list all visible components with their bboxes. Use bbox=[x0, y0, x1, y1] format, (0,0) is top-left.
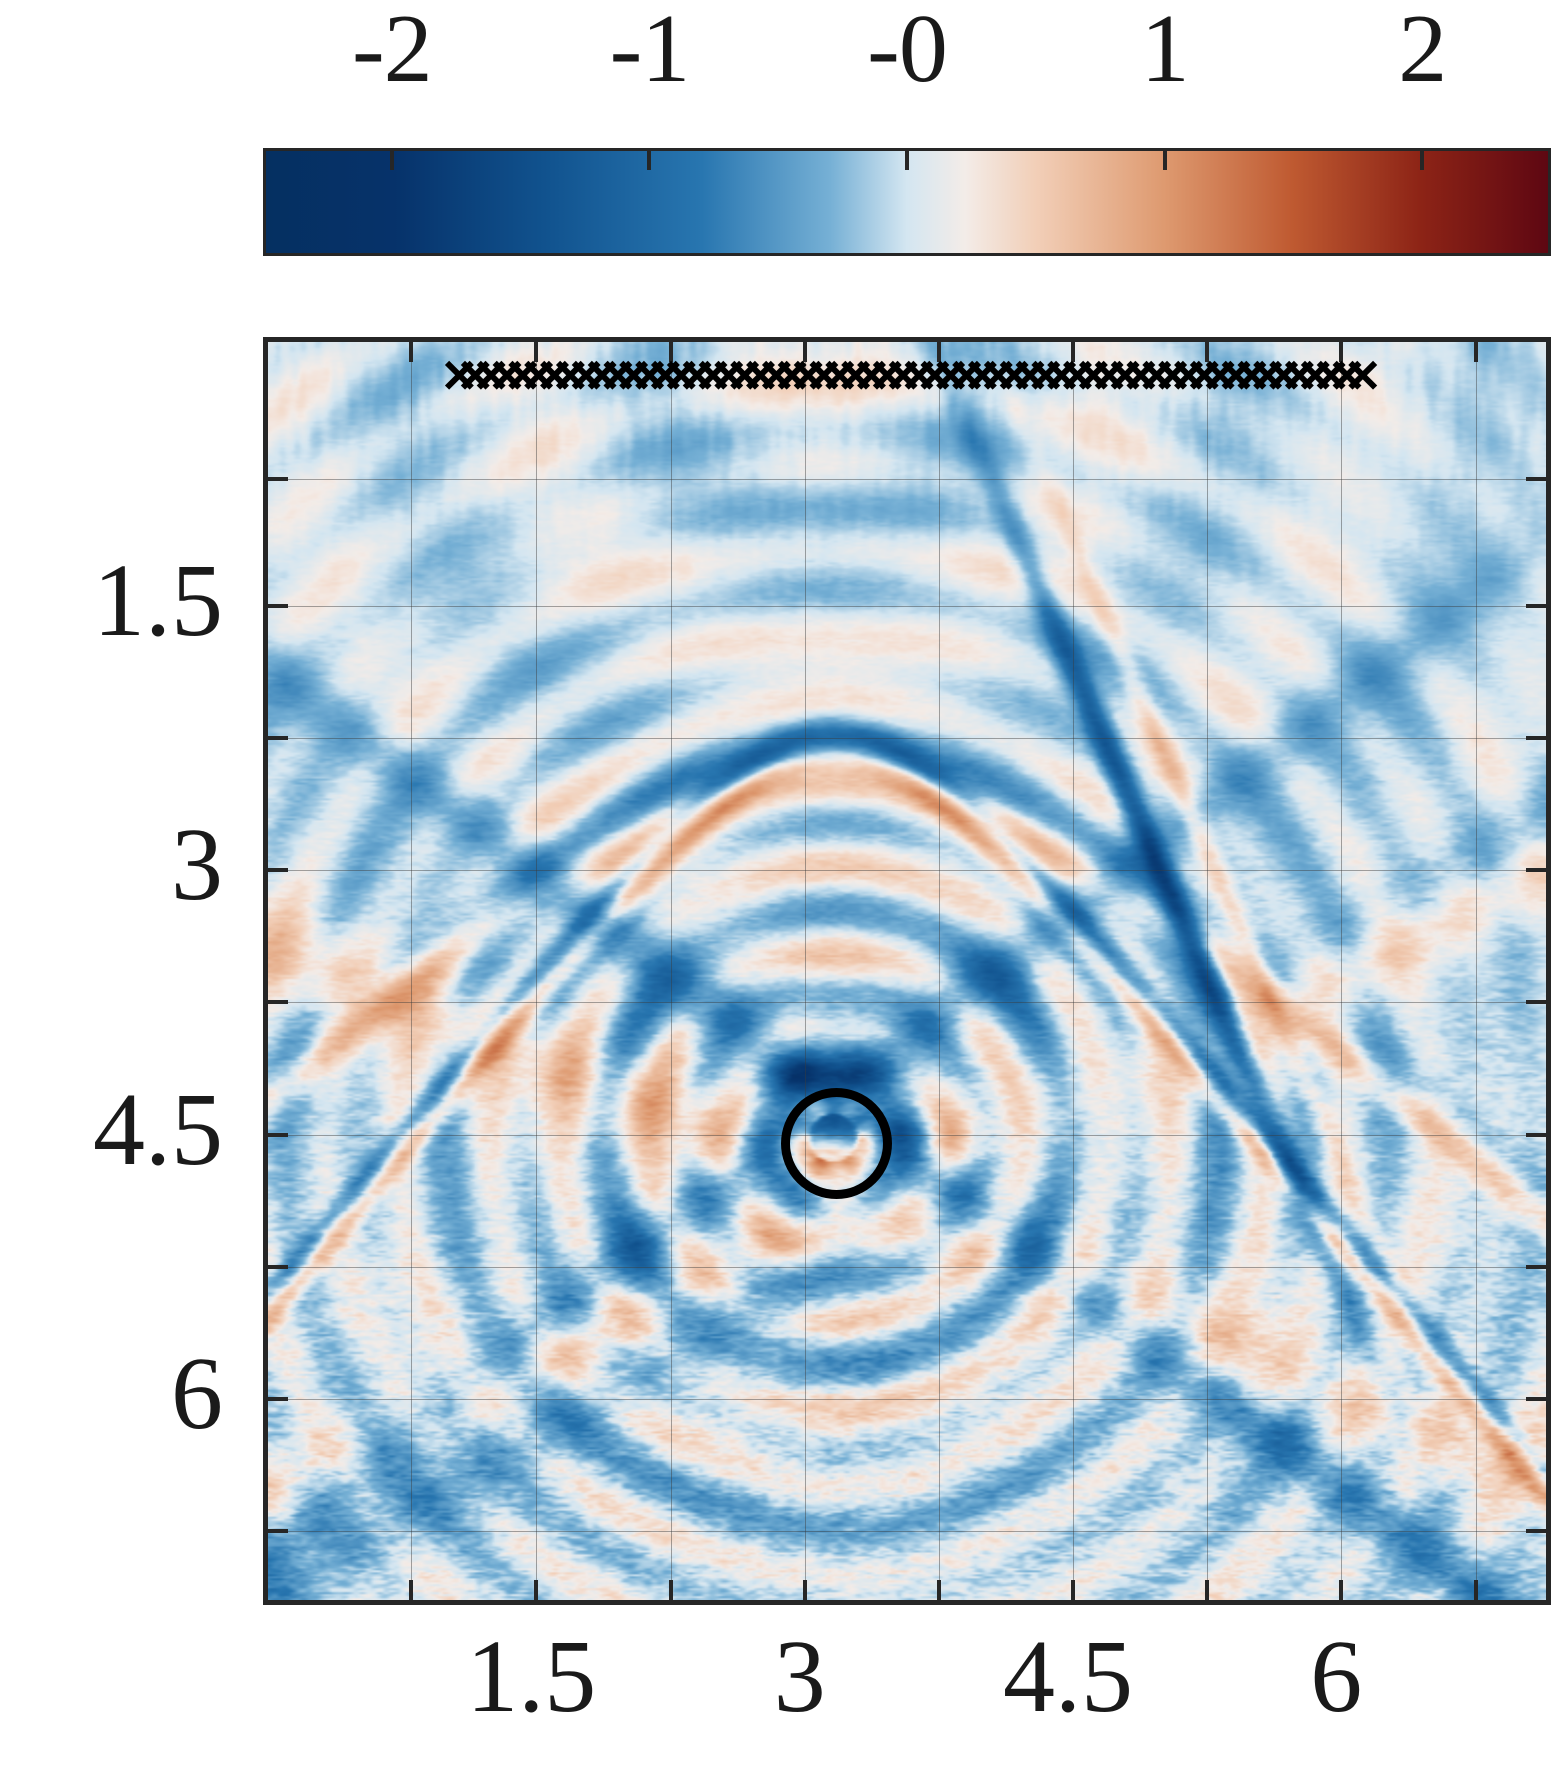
tick-left-0 bbox=[268, 477, 288, 481]
tick-right-8 bbox=[1526, 1529, 1546, 1533]
x-tick-label-2: 4.5 bbox=[1003, 1625, 1133, 1729]
tick-left-2 bbox=[268, 736, 288, 740]
colorbar-tick-2 bbox=[905, 148, 909, 170]
tick-left-6 bbox=[268, 1265, 288, 1269]
tick-bottom-1 bbox=[534, 1580, 538, 1600]
tick-right-7 bbox=[1526, 1397, 1546, 1401]
plot-area: ✕✕✕✕✕✕✕✕✕✕✕✕✕✕✕✕✕✕✕✕✕✕✕✕✕✕✕✕✕✕✕✕✕✕✕✕✕✕✕✕… bbox=[263, 337, 1551, 1605]
colorbar: -2-1-012 bbox=[263, 148, 1551, 256]
x-tick-label-3: 6 bbox=[1310, 1625, 1362, 1729]
tick-bottom-2 bbox=[669, 1580, 673, 1600]
tick-top-3 bbox=[803, 342, 807, 362]
tick-bottom-7 bbox=[1339, 1580, 1343, 1600]
tick-left-8 bbox=[268, 1529, 288, 1533]
tick-top-5 bbox=[1071, 342, 1075, 362]
tick-left-7 bbox=[268, 1397, 288, 1401]
colorbar-tick-label-1: -1 bbox=[610, 0, 690, 98]
colorbar-tick-1 bbox=[647, 148, 651, 170]
y-axis-tick-labels: 1.534.56 bbox=[0, 337, 235, 1605]
tick-bottom-6 bbox=[1205, 1580, 1209, 1600]
y-tick-label-3: 6 bbox=[171, 1342, 223, 1446]
x-tick-label-0: 1.5 bbox=[466, 1625, 596, 1729]
colorbar-tick-4 bbox=[1420, 148, 1424, 170]
tick-right-6 bbox=[1526, 1265, 1546, 1269]
colorbar-tick-label-3: 1 bbox=[1141, 0, 1189, 98]
tick-right-3 bbox=[1526, 868, 1546, 872]
tick-bottom-8 bbox=[1474, 1580, 1478, 1600]
colorbar-tick-label-0: -2 bbox=[352, 0, 432, 98]
tick-top-1 bbox=[534, 342, 538, 362]
tick-bottom-5 bbox=[1071, 1580, 1075, 1600]
colorbar-tick-3 bbox=[1163, 148, 1167, 170]
colorbar-tick-label-4: 2 bbox=[1398, 0, 1446, 98]
tick-left-4 bbox=[268, 1000, 288, 1004]
tick-right-5 bbox=[1526, 1133, 1546, 1137]
tick-left-5 bbox=[268, 1133, 288, 1137]
y-tick-label-0: 1.5 bbox=[93, 549, 223, 653]
tick-bottom-0 bbox=[409, 1580, 413, 1600]
tick-right-4 bbox=[1526, 1000, 1546, 1004]
tick-top-2 bbox=[669, 342, 673, 362]
tick-right-0 bbox=[1526, 477, 1546, 481]
tick-top-4 bbox=[937, 342, 941, 362]
x-tick-label-1: 3 bbox=[774, 1625, 826, 1729]
tick-left-3 bbox=[268, 868, 288, 872]
tick-top-6 bbox=[1205, 342, 1209, 362]
tick-left-1 bbox=[268, 604, 288, 608]
tick-top-8 bbox=[1474, 342, 1478, 362]
heatmap-image bbox=[268, 342, 1546, 1600]
x-axis-tick-labels: 1.534.56 bbox=[263, 1625, 1551, 1785]
tick-bottom-3 bbox=[803, 1580, 807, 1600]
tick-top-7 bbox=[1339, 342, 1343, 362]
tick-bottom-4 bbox=[937, 1580, 941, 1600]
tick-right-1 bbox=[1526, 604, 1546, 608]
tick-top-0 bbox=[409, 342, 413, 362]
y-tick-label-1: 3 bbox=[171, 813, 223, 917]
y-tick-label-2: 4.5 bbox=[93, 1078, 223, 1182]
colorbar-tick-0 bbox=[390, 148, 394, 170]
colorbar-tick-label-2: -0 bbox=[867, 0, 947, 98]
tick-right-2 bbox=[1526, 736, 1546, 740]
